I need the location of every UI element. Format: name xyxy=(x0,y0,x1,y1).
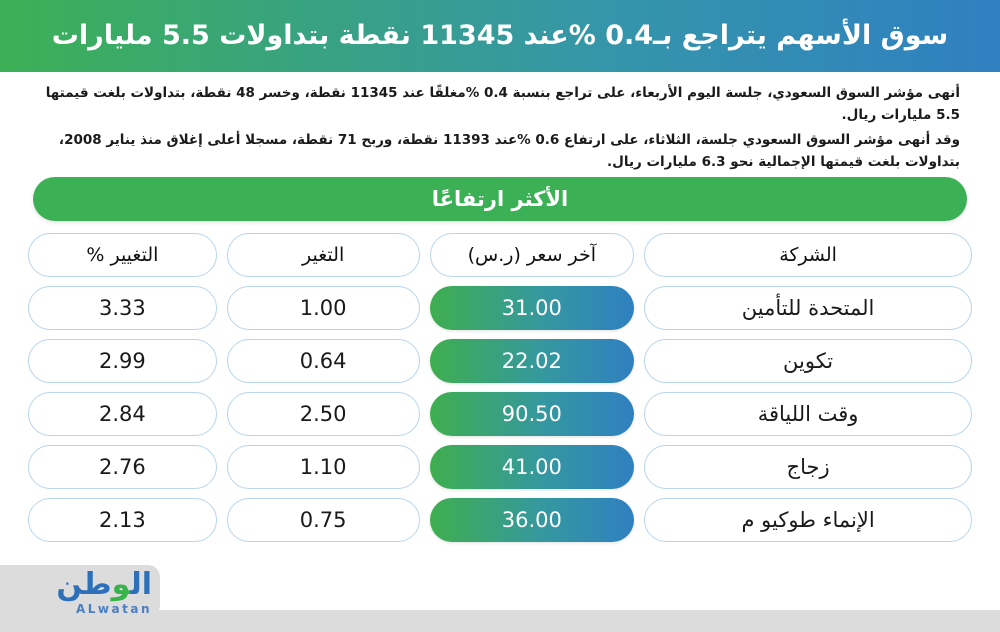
cell-company: زجاج xyxy=(644,445,972,489)
cell-change: 1.10 xyxy=(227,445,420,489)
cell-change: 1.00 xyxy=(227,286,420,330)
table-row: زجاج 41.00 1.10 2.76 xyxy=(28,444,972,490)
logo-arabic-wordmark: الوطن xyxy=(56,570,152,600)
title-banner: سوق الأسهم يتراجع بـ0.4 %عند 11345 نقطة … xyxy=(0,0,1000,72)
column-header-price: آخر سعر (ر.س) xyxy=(430,233,635,277)
cell-change: 0.64 xyxy=(227,339,420,383)
cell-change: 0.75 xyxy=(227,498,420,542)
cell-company: المتحدة للتأمين xyxy=(644,286,972,330)
table-row: الإنماء طوكيو م 36.00 0.75 2.13 xyxy=(28,497,972,543)
intro-paragraph-1: أنهى مؤشر السوق السعودي، جلسة اليوم الأر… xyxy=(40,82,960,127)
table-row: تكوين 22.02 0.64 2.99 xyxy=(28,338,972,384)
intro-text: أنهى مؤشر السوق السعودي، جلسة اليوم الأر… xyxy=(40,82,960,175)
column-header-change: التغير xyxy=(227,233,420,277)
cell-company: تكوين xyxy=(644,339,972,383)
cell-change-pct: 2.99 xyxy=(28,339,217,383)
column-header-change-pct: التغيير % xyxy=(28,233,217,277)
cell-company: الإنماء طوكيو م xyxy=(644,498,972,542)
cell-change: 2.50 xyxy=(227,392,420,436)
page-title: سوق الأسهم يتراجع بـ0.4 %عند 11345 نقطة … xyxy=(52,20,948,51)
section-header-top-gainers: الأكثر ارتفاعًا xyxy=(33,177,967,221)
cell-price: 22.02 xyxy=(430,339,635,383)
alwatan-logo: الوطن ALwatan xyxy=(12,568,152,616)
infographic-page: سوق الأسهم يتراجع بـ0.4 %عند 11345 نقطة … xyxy=(0,0,1000,632)
cell-change-pct: 2.84 xyxy=(28,392,217,436)
section-header-label: الأكثر ارتفاعًا xyxy=(432,187,568,211)
table-row: وقت اللياقة 90.50 2.50 2.84 xyxy=(28,391,972,437)
cell-change-pct: 2.76 xyxy=(28,445,217,489)
cell-company: وقت اللياقة xyxy=(644,392,972,436)
cell-price: 41.00 xyxy=(430,445,635,489)
logo-latin-wordmark: ALwatan xyxy=(76,603,152,615)
table-row: المتحدة للتأمين 31.00 1.00 3.33 xyxy=(28,285,972,331)
intro-paragraph-2: وقد أنهى مؤشر السوق السعودي جلسة، الثلاث… xyxy=(40,129,960,174)
table-header-row: الشركة آخر سعر (ر.س) التغير التغيير % xyxy=(28,232,972,278)
gainers-table: الشركة آخر سعر (ر.س) التغير التغيير % ال… xyxy=(28,232,972,550)
logo-arabic-lead: ال xyxy=(130,567,152,602)
column-header-company: الشركة xyxy=(644,233,972,277)
cell-change-pct: 3.33 xyxy=(28,286,217,330)
cell-price: 90.50 xyxy=(430,392,635,436)
cell-price: 36.00 xyxy=(430,498,635,542)
logo-arabic-green: و xyxy=(112,567,131,602)
cell-change-pct: 2.13 xyxy=(28,498,217,542)
logo-arabic-tail: طن xyxy=(56,567,111,602)
cell-price: 31.00 xyxy=(430,286,635,330)
